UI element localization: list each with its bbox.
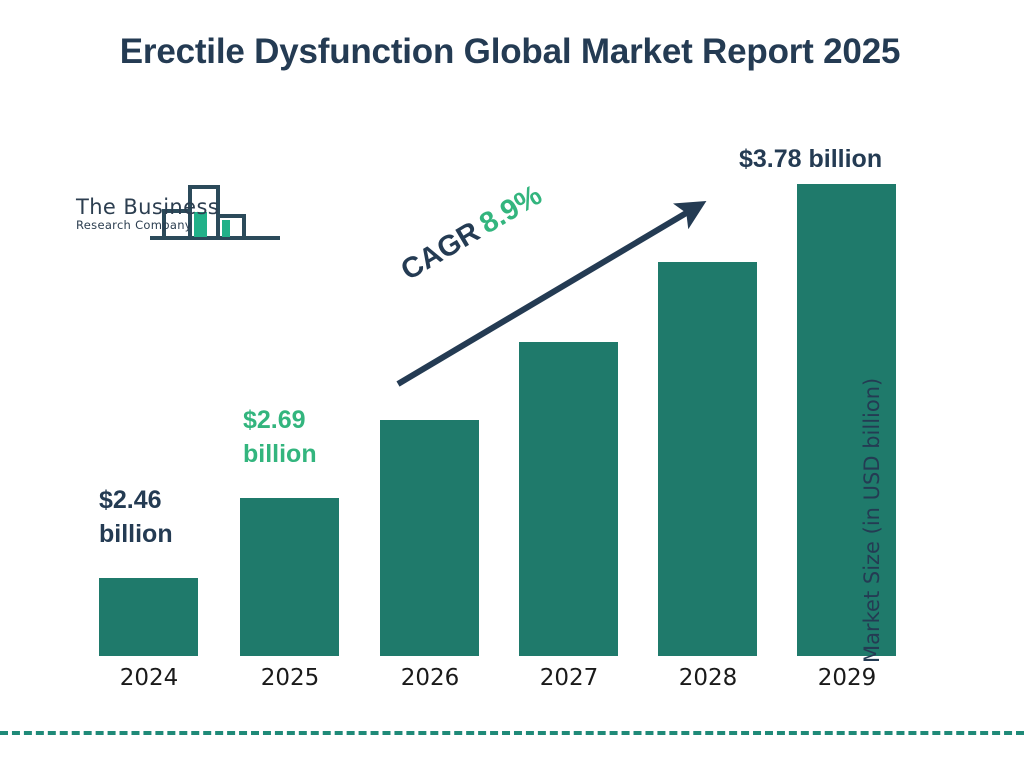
value-label-2025: $2.69 billion [243, 403, 317, 471]
xtick-2024: 2024 [99, 665, 199, 691]
xtick-2027: 2027 [519, 665, 619, 691]
value-label-2024: $2.46 billion [99, 483, 173, 551]
chart-page: Erectile Dysfunction Global Market Repor… [0, 0, 1024, 768]
xtick-2028: 2028 [658, 665, 758, 691]
y-axis-label: Market Size (in USD billion) [860, 333, 884, 663]
xtick-2025: 2025 [240, 665, 340, 691]
value-label-2029: $3.78 billion [739, 142, 939, 176]
xtick-2026: 2026 [380, 665, 480, 691]
xtick-2029: 2029 [797, 665, 897, 691]
footer-divider [0, 731, 1024, 735]
